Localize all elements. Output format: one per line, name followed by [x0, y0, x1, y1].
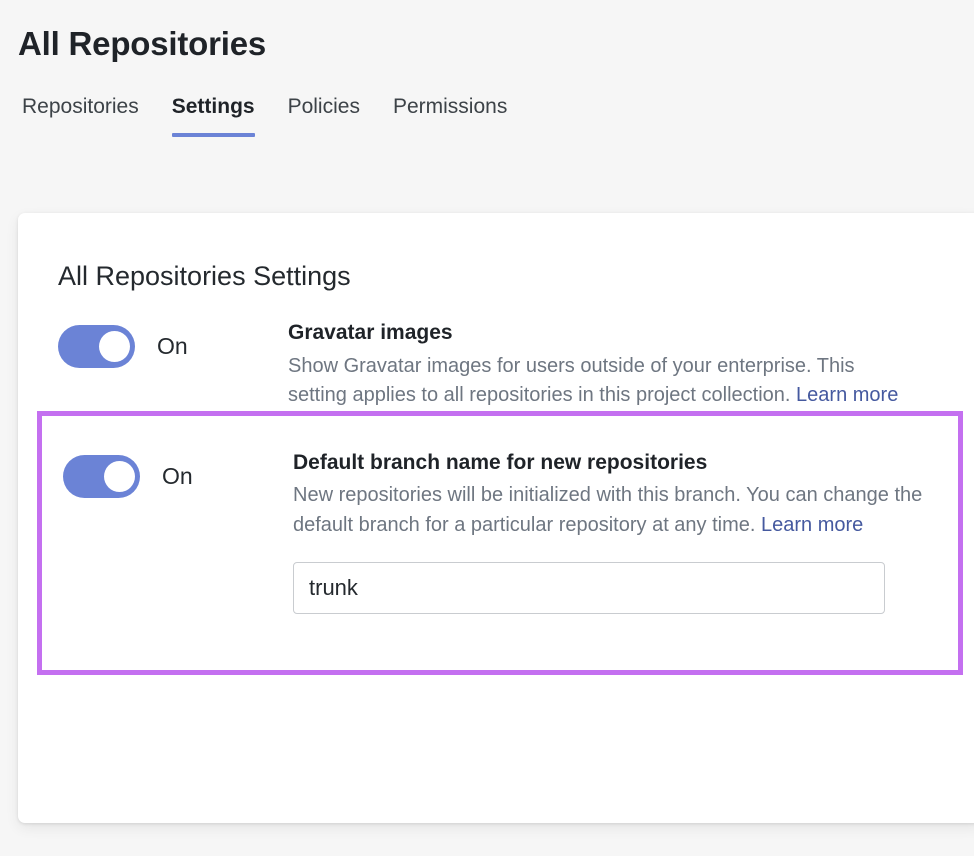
- settings-list: On Gravatar images Show Gravatar images …: [18, 292, 974, 675]
- learn-more-link-default-branch-name[interactable]: Learn more: [761, 514, 863, 536]
- toggle-cluster-gravatar-images: On: [58, 319, 288, 368]
- tab-repositories[interactable]: Repositories: [22, 94, 139, 150]
- default-branch-name-input[interactable]: [293, 562, 885, 614]
- page-header: All Repositories: [0, 0, 974, 64]
- setting-text-default-branch-name: Default branch name for new repositories…: [293, 449, 933, 615]
- tab-bar: Repositories Settings Policies Permissio…: [0, 64, 974, 142]
- page-title: All Repositories: [18, 24, 974, 64]
- tab-settings[interactable]: Settings: [172, 94, 255, 150]
- setting-name-default-branch-name: Default branch name for new repositories: [293, 449, 923, 477]
- toggle-knob-icon: [104, 461, 135, 492]
- settings-card: All Repositories Settings On Gravatar im…: [18, 213, 974, 823]
- toggle-cluster-default-branch-name: On: [63, 449, 293, 498]
- learn-more-link-gravatar-images[interactable]: Learn more: [796, 384, 898, 406]
- toggle-state-label-default-branch-name: On: [162, 465, 193, 488]
- toggle-switch-default-branch-name[interactable]: [63, 455, 140, 498]
- toggle-knob-icon: [99, 331, 130, 362]
- setting-description-default-branch-name: New repositories will be initialized wit…: [293, 481, 923, 540]
- setting-description-gravatar-images: Show Gravatar images for users outside o…: [288, 352, 918, 411]
- setting-text-gravatar-images: Gravatar images Show Gravatar images for…: [288, 319, 928, 411]
- card-title: All Repositories Settings: [18, 213, 974, 292]
- toggle-switch-gravatar-images[interactable]: [58, 325, 135, 368]
- toggle-state-label-gravatar-images: On: [157, 335, 188, 358]
- setting-row-default-branch-name: On Default branch name for new repositor…: [37, 411, 963, 675]
- tab-policies[interactable]: Policies: [288, 94, 360, 150]
- setting-name-gravatar-images: Gravatar images: [288, 319, 918, 347]
- setting-row-gravatar-images: On Gravatar images Show Gravatar images …: [18, 304, 974, 411]
- setting-description-text-gravatar-images: Show Gravatar images for users outside o…: [288, 355, 855, 407]
- tab-permissions[interactable]: Permissions: [393, 94, 507, 150]
